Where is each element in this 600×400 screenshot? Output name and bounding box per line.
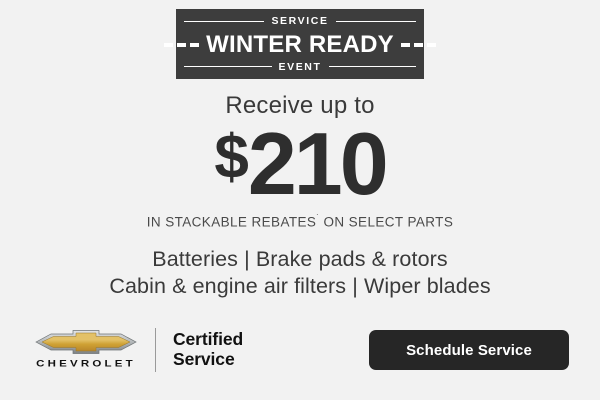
badge-dashes-right <box>394 43 443 47</box>
badge-rule-right <box>336 21 416 22</box>
badge-rule-left <box>184 21 264 22</box>
badge-title: WINTER READY <box>206 33 394 57</box>
banner-footer: CHEVROLET Certified Service Schedule Ser… <box>0 322 600 378</box>
badge-rule-right <box>329 66 417 67</box>
dash-icon <box>414 43 423 47</box>
certified-service-label: Certified Service <box>173 330 243 369</box>
covered-products: Batteries | Brake pads & rotors Cabin & … <box>109 246 490 299</box>
offer-fineprint: IN STACKABLE REBATES˙ ON SELECT PARTS <box>147 214 454 229</box>
badge-kicker-event: EVENT <box>272 62 329 73</box>
event-badge: SERVICE WINTER READY EVENT <box>176 9 424 79</box>
badge-rule-left <box>184 66 272 67</box>
promo-banner: SERVICE WINTER READY EVENT Receive up to <box>0 0 600 400</box>
dash-icon <box>427 43 436 47</box>
dash-icon <box>190 43 199 47</box>
badge-kicker-service: SERVICE <box>264 16 335 27</box>
badge-kicker-top-row: SERVICE <box>176 16 424 27</box>
dash-icon <box>164 43 173 47</box>
brand-lockup: CHEVROLET Certified Service <box>31 328 243 372</box>
chevrolet-bowtie-icon <box>34 329 138 355</box>
fineprint-text-tail: ON SELECT PARTS <box>319 214 453 229</box>
product-line-1: Batteries | Brake pads & rotors <box>109 246 490 273</box>
certified-line-2: Service <box>173 350 243 370</box>
product-line-2: Cabin & engine air filters | Wiper blade… <box>109 273 490 300</box>
certified-line-1: Certified <box>173 330 243 350</box>
offer-amount: $ 210 <box>214 124 385 205</box>
currency-symbol: $ <box>214 129 247 186</box>
dash-icon <box>401 43 410 47</box>
dash-icon <box>177 43 186 47</box>
fineprint-text: IN STACKABLE REBATES <box>147 214 317 229</box>
badge-kicker-bottom-row: EVENT <box>176 62 424 73</box>
badge-title-row: WINTER READY <box>176 27 424 62</box>
chevrolet-logo: CHEVROLET <box>31 329 141 371</box>
schedule-service-button[interactable]: Schedule Service <box>369 330 569 370</box>
badge-dashes-left <box>157 43 206 47</box>
chevrolet-wordmark: CHEVROLET <box>36 360 136 369</box>
lockup-divider <box>155 328 156 372</box>
amount-value: 210 <box>248 124 386 205</box>
